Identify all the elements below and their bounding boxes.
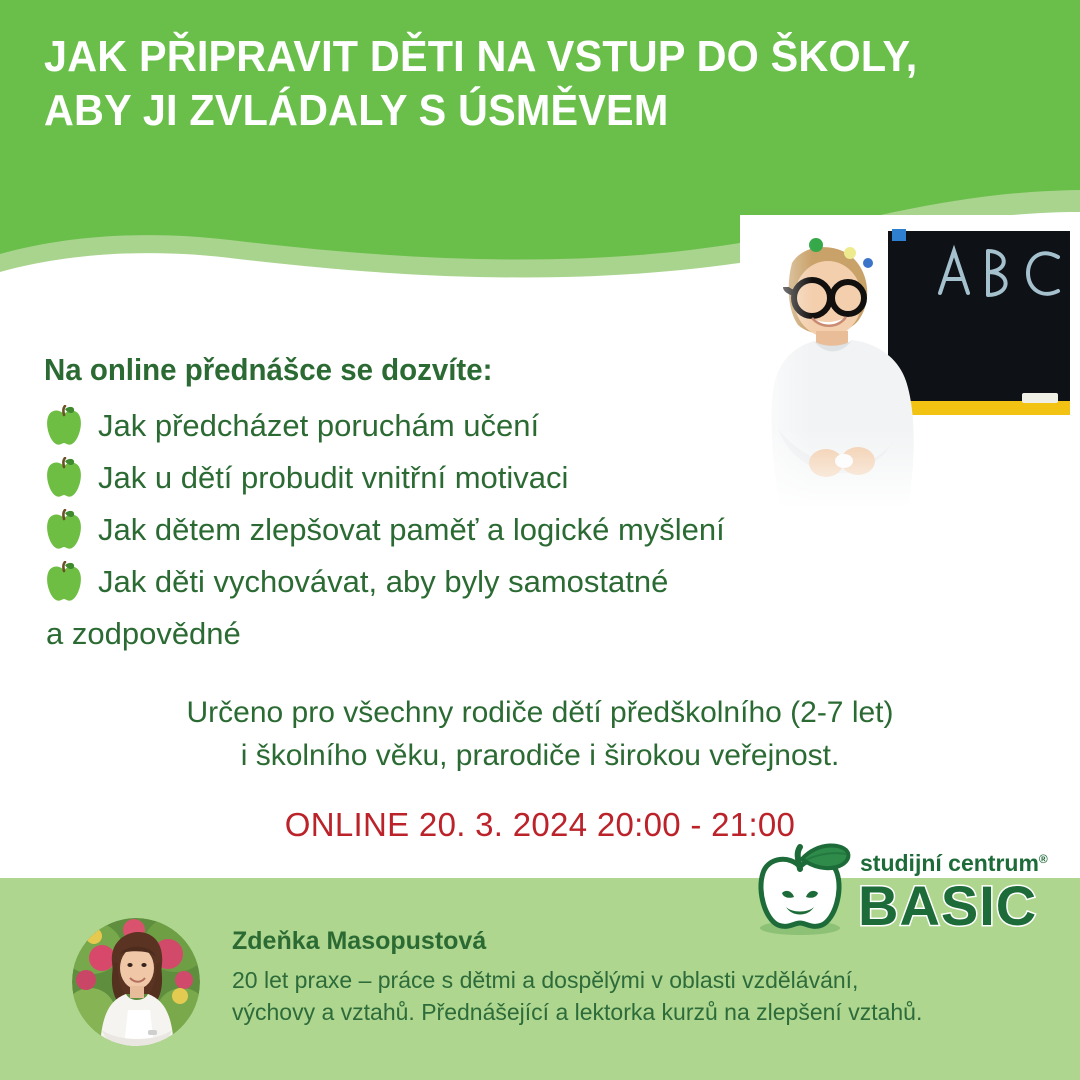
target-line-1: Určeno pro všechny rodiče dětí předškoln…: [0, 692, 1080, 735]
title-line-1: JAK PŘIPRAVIT DĚTI NA VSTUP DO ŠKOLY,: [44, 30, 984, 84]
title-line-2: ABY JI ZVLÁDALY S ÚSMĚVEM: [44, 84, 984, 138]
speaker-bio-line-2: výchovy a vztahů. Přednášející a lektork…: [232, 996, 1022, 1029]
list-item: Jak děti vychovávat, aby byly samostatné: [44, 556, 924, 608]
logo-tagline-text: studijní centrum®: [860, 850, 1048, 876]
list-item-label: Jak dětem zlepšovat paměť a logické myšl…: [98, 514, 725, 547]
basic-logo[interactable]: studijní centrum® BASIC: [752, 843, 1068, 935]
speaker-info: Zdeňka Masopustová 20 let praxe – práce …: [232, 925, 1022, 1029]
lead-heading: Na online přednášce se dozvíte:: [44, 352, 492, 388]
poster-title: JAK PŘIPRAVIT DĚTI NA VSTUP DO ŠKOLY, AB…: [44, 30, 1044, 137]
benefits-list: Jak předcházet poruchám učení Jak u dětí…: [44, 400, 924, 652]
poster-canvas: JAK PŘIPRAVIT DĚTI NA VSTUP DO ŠKOLY, AB…: [0, 0, 1080, 1080]
list-item-label: Jak děti vychovávat, aby byly samostatné: [98, 566, 668, 599]
apple-icon: [44, 561, 84, 603]
online-date-time: ONLINE 20. 3. 2024 20:00 - 21:00: [0, 806, 1080, 844]
apple-icon: [44, 509, 84, 551]
list-item-label: Jak u dětí probudit vnitřní motivaci: [98, 462, 568, 495]
target-audience-block: Určeno pro všechny rodiče dětí předškoln…: [0, 692, 1080, 777]
list-item: Jak dětem zlepšovat paměť a logické myšl…: [44, 504, 924, 556]
speaker-avatar: [72, 918, 200, 1046]
apple-icon: [44, 405, 84, 447]
list-item-label: Jak předcházet poruchám učení: [98, 410, 539, 443]
list-item: Jak předcházet poruchám učení: [44, 400, 924, 452]
speaker-bio-line-1: 20 let praxe – práce s dětmi a dospělými…: [232, 964, 1022, 997]
logo-brand-text: BASIC: [858, 874, 1037, 935]
list-item: Jak u dětí probudit vnitřní motivaci: [44, 452, 924, 504]
list-item-continuation: a zodpovědné: [46, 616, 924, 652]
target-line-2: i školního věku, prarodiče i širokou veř…: [0, 735, 1080, 778]
apple-icon: [44, 457, 84, 499]
